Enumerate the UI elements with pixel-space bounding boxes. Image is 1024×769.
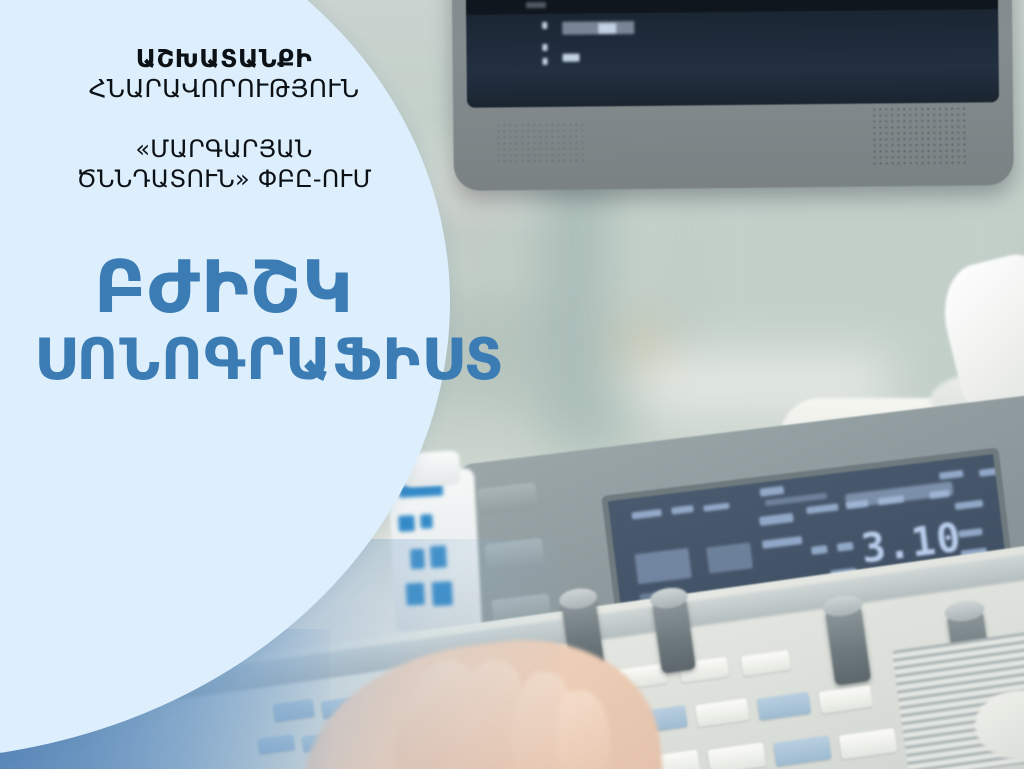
panel-button[interactable] xyxy=(477,482,538,515)
headline-line-1: ԲԺԻՇԿ xyxy=(34,250,414,325)
display-marker xyxy=(542,22,547,29)
ultrasound-monitor xyxy=(450,0,1014,191)
amber-object xyxy=(630,330,656,356)
key[interactable] xyxy=(741,650,791,676)
organization-line-2: ԾՆՆԴԱՏՈՒՆ» ՓԲԸ-ՈՒՄ xyxy=(76,165,372,193)
key[interactable] xyxy=(707,742,766,769)
poster: 3.10 xyxy=(0,0,1024,769)
speaker-grille-left-icon xyxy=(495,122,585,165)
organization-name: «ՄԱՐԳԱՐՅԱՆ ԾՆՆԴԱՏՈՒՆ» ՓԲԸ-ՈՒՄ xyxy=(34,134,414,194)
display-label xyxy=(563,54,580,62)
speaker-grille-right-icon xyxy=(871,106,968,165)
panel-button[interactable] xyxy=(484,538,545,571)
ultrasound-display xyxy=(464,0,999,108)
kicker-line-2: ՀՆԱՐԱՎՈՐՈՒԹՅՈՒՆ xyxy=(34,74,414,104)
job-title-headline: ԲԺԻՇԿ ՍՈՆՈԳՐԱՖԻՍՏ xyxy=(34,250,414,390)
display-marker xyxy=(543,58,548,65)
organization-line-1: «ՄԱՐԳԱՐՅԱՆ xyxy=(135,135,312,163)
key[interactable] xyxy=(695,698,750,727)
headline-line-2: ՍՈՆՈԳՐԱՖԻՍՏ xyxy=(34,331,414,390)
key[interactable] xyxy=(839,728,898,760)
key[interactable] xyxy=(773,735,832,767)
control-knob[interactable] xyxy=(825,605,871,685)
display-marker xyxy=(542,44,547,51)
key[interactable] xyxy=(757,692,812,721)
display-marker xyxy=(526,2,546,8)
key[interactable] xyxy=(818,685,873,714)
kicker-line-1: ԱՇԽԱՏԱՆՔԻ xyxy=(34,44,414,73)
display-label xyxy=(598,23,616,33)
text-block: ԱՇԽԱՏԱՆՔԻ ՀՆԱՐԱՎՈՐՈՒԹՅՈՒՆ «ՄԱՐԳԱՐՅԱՆ ԾՆՆ… xyxy=(0,0,448,769)
